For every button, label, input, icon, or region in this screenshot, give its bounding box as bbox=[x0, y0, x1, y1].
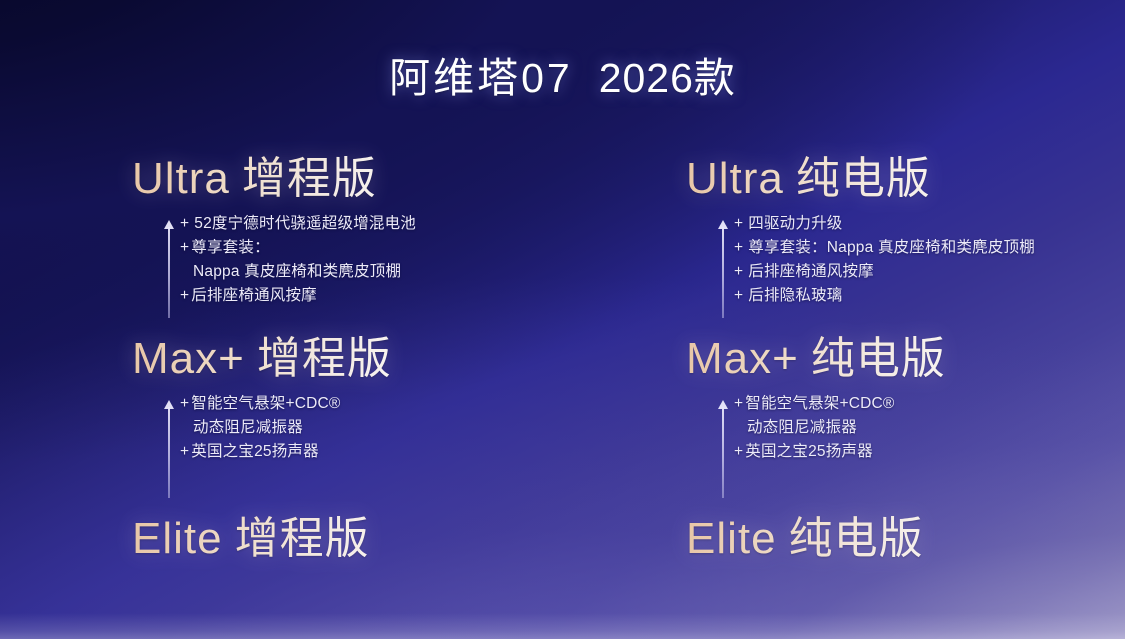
feature-marker: + bbox=[180, 284, 189, 308]
feature-list-maxplus-range: +智能空气悬架+CDC® 动态阻尼减振器 +英国之宝25扬声器 bbox=[180, 392, 602, 464]
slide-canvas: 阿维塔072026款 Ultra增程版 +52度宁德时代骁遥超级增混电池 +尊享… bbox=[0, 0, 1125, 639]
feature-marker: + bbox=[734, 212, 743, 236]
feature-item: 动态阻尼减振器 bbox=[734, 416, 1125, 440]
upgrade-arrow-icon bbox=[163, 220, 174, 318]
feature-text: 动态阻尼减振器 bbox=[747, 419, 857, 436]
feature-marker: + bbox=[734, 440, 743, 464]
feature-block-ultra-range: +52度宁德时代骁遥超级增混电池 +尊享套装： Nappa 真皮座椅和类麂皮顶棚… bbox=[132, 212, 602, 326]
trim-heading-ultra-range: Ultra增程版 bbox=[132, 146, 602, 212]
feature-text: 英国之宝25扬声器 bbox=[745, 443, 873, 460]
trim-name-en: Ultra bbox=[132, 154, 230, 203]
feature-list-ultra-range: +52度宁德时代骁遥超级增混电池 +尊享套装： Nappa 真皮座椅和类麂皮顶棚… bbox=[180, 212, 602, 308]
trim-name-cn: 增程版 bbox=[257, 334, 392, 383]
feature-item: +后排座椅通风按摩 bbox=[180, 284, 602, 308]
feature-item: +后排隐私玻璃 bbox=[734, 284, 1125, 308]
feature-item: +英国之宝25扬声器 bbox=[734, 440, 1125, 464]
page-title-model: 阿维塔07 bbox=[389, 55, 573, 101]
trim-column-range-extender: Ultra增程版 +52度宁德时代骁遥超级增混电池 +尊享套装： Nappa 真… bbox=[132, 146, 602, 572]
feature-item: 动态阻尼减振器 bbox=[180, 416, 602, 440]
feature-block-maxplus-range: +智能空气悬架+CDC® 动态阻尼减振器 +英国之宝25扬声器 bbox=[132, 392, 602, 506]
trim-name-en: Elite bbox=[132, 514, 223, 563]
feature-item: +智能空气悬架+CDC® bbox=[734, 392, 1125, 416]
trim-heading-maxplus-range: Max+增程版 bbox=[132, 326, 602, 392]
trim-name-en: Max+ bbox=[686, 334, 799, 383]
feature-text: 四驱动力升级 bbox=[748, 215, 842, 232]
trim-name-en: Ultra bbox=[686, 154, 784, 203]
page-title-year: 2026款 bbox=[599, 55, 736, 101]
feature-item: +智能空气悬架+CDC® bbox=[180, 392, 602, 416]
feature-item: +四驱动力升级 bbox=[734, 212, 1125, 236]
feature-item: +后排座椅通风按摩 bbox=[734, 260, 1125, 284]
feature-text: 智能空气悬架+CDC® bbox=[191, 395, 340, 412]
feature-text: 后排座椅通风按摩 bbox=[748, 263, 874, 280]
feature-block-ultra-bev: +四驱动力升级 +尊享套装：Nappa 真皮座椅和类麂皮顶棚 +后排座椅通风按摩… bbox=[686, 212, 1125, 326]
feature-text: 尊享套装： bbox=[191, 239, 270, 256]
feature-item: +尊享套装：Nappa 真皮座椅和类麂皮顶棚 bbox=[734, 236, 1125, 260]
upgrade-arrow-icon bbox=[717, 220, 728, 318]
feature-text: 52度宁德时代骁遥超级增混电池 bbox=[194, 215, 416, 232]
feature-text: Nappa 真皮座椅和类麂皮顶棚 bbox=[193, 263, 401, 280]
feature-marker: + bbox=[180, 236, 189, 260]
trim-name-cn: 增程版 bbox=[242, 154, 377, 203]
feature-text: 英国之宝25扬声器 bbox=[191, 443, 319, 460]
feature-list-ultra-bev: +四驱动力升级 +尊享套装：Nappa 真皮座椅和类麂皮顶棚 +后排座椅通风按摩… bbox=[734, 212, 1125, 308]
feature-item: Nappa 真皮座椅和类麂皮顶棚 bbox=[180, 260, 602, 284]
feature-marker: + bbox=[180, 392, 189, 416]
feature-marker: + bbox=[180, 440, 189, 464]
trim-name-cn: 纯电版 bbox=[796, 154, 931, 203]
trim-name-cn: 纯电版 bbox=[789, 514, 924, 563]
feature-text: 智能空气悬架+CDC® bbox=[745, 395, 894, 412]
feature-item: +52度宁德时代骁遥超级增混电池 bbox=[180, 212, 602, 236]
feature-marker: + bbox=[734, 392, 743, 416]
trim-name-en: Elite bbox=[686, 514, 777, 563]
feature-list-maxplus-bev: +智能空气悬架+CDC® 动态阻尼减振器 +英国之宝25扬声器 bbox=[734, 392, 1125, 464]
trim-name-en: Max+ bbox=[132, 334, 245, 383]
trim-heading-ultra-bev: Ultra纯电版 bbox=[686, 146, 1125, 212]
page-title: 阿维塔072026款 bbox=[0, 44, 1125, 104]
feature-item: +尊享套装： bbox=[180, 236, 602, 260]
feature-marker: + bbox=[734, 260, 743, 284]
trim-column-battery-electric: Ultra纯电版 +四驱动力升级 +尊享套装：Nappa 真皮座椅和类麂皮顶棚 … bbox=[686, 146, 1125, 572]
trim-heading-elite-bev: Elite纯电版 bbox=[686, 506, 1125, 572]
feature-text: 后排隐私玻璃 bbox=[748, 287, 842, 304]
feature-item: +英国之宝25扬声器 bbox=[180, 440, 602, 464]
feature-marker: + bbox=[734, 236, 743, 260]
upgrade-arrow-icon bbox=[717, 400, 728, 498]
feature-text: 动态阻尼减振器 bbox=[193, 419, 303, 436]
feature-marker: + bbox=[180, 212, 189, 236]
feature-marker: + bbox=[734, 284, 743, 308]
trim-heading-elite-range: Elite增程版 bbox=[132, 506, 602, 572]
trim-name-cn: 增程版 bbox=[235, 514, 370, 563]
feature-text: 尊享套装：Nappa 真皮座椅和类麂皮顶棚 bbox=[748, 239, 1035, 256]
trim-heading-maxplus-bev: Max+纯电版 bbox=[686, 326, 1125, 392]
feature-text: 后排座椅通风按摩 bbox=[191, 287, 317, 304]
upgrade-arrow-icon bbox=[163, 400, 174, 498]
trim-name-cn: 纯电版 bbox=[811, 334, 946, 383]
feature-block-maxplus-bev: +智能空气悬架+CDC® 动态阻尼减振器 +英国之宝25扬声器 bbox=[686, 392, 1125, 506]
